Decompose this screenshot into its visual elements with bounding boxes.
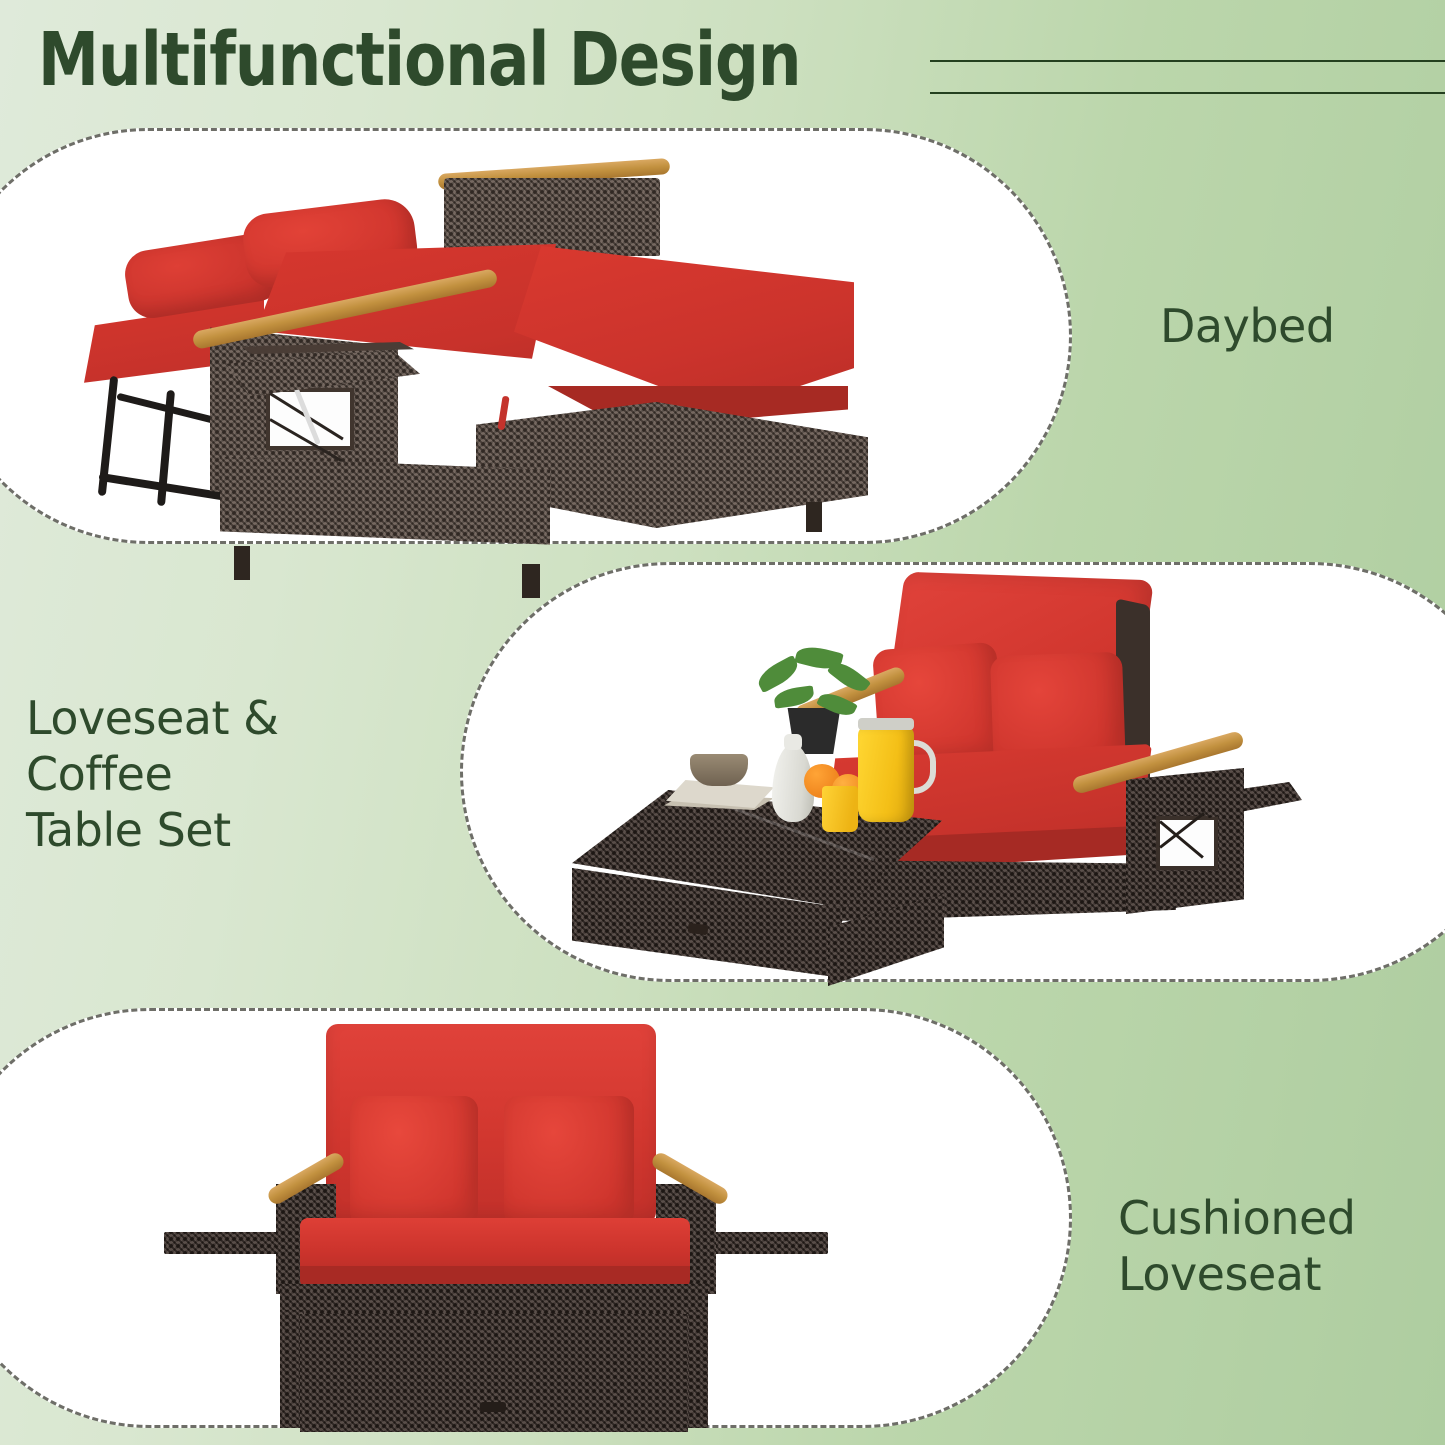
glass-juice-jar bbox=[858, 726, 914, 822]
side-tray-right bbox=[702, 1232, 828, 1254]
panel-label-cushioned-loveseat: Cushioned Loveseat bbox=[1118, 1190, 1355, 1302]
wicker-base-rail bbox=[280, 1284, 708, 1318]
metal-bowl bbox=[690, 754, 748, 786]
label-line-2: Coffee bbox=[26, 746, 278, 802]
panel-label-daybed: Daybed bbox=[1160, 298, 1335, 354]
side-tray-left bbox=[164, 1232, 290, 1254]
label-line-2: Loveseat bbox=[1118, 1246, 1355, 1302]
jar-lid bbox=[858, 718, 914, 730]
juice-glass bbox=[822, 786, 858, 832]
label-line-1: Cushioned bbox=[1118, 1190, 1355, 1246]
panel-label-loveseat-coffee-table: Loveseat & Coffee Table Set bbox=[26, 690, 278, 858]
throw-pillow-left bbox=[350, 1096, 478, 1226]
cushioned-loveseat-illustration bbox=[128, 1018, 748, 1430]
pull-out-ottoman bbox=[300, 1314, 688, 1432]
label-line-1: Loveseat & bbox=[26, 690, 278, 746]
header: Multifunctional Design bbox=[0, 0, 1445, 130]
daybed-foot-center bbox=[522, 564, 540, 598]
throw-pillow-right bbox=[504, 1096, 634, 1226]
header-rule-bottom bbox=[930, 92, 1445, 94]
ottoman-handle bbox=[480, 1402, 506, 1412]
header-rule-top bbox=[930, 60, 1445, 62]
daybed-foot-right bbox=[806, 502, 822, 532]
infographic-stage: Multifunctional Design Daybed bbox=[0, 0, 1445, 1445]
daybed-illustration bbox=[70, 150, 930, 550]
loveseat-coffee-table-illustration bbox=[560, 568, 1320, 988]
daybed-foot-left bbox=[234, 546, 250, 580]
page-title: Multifunctional Design bbox=[38, 17, 801, 103]
label-line-3: Table Set bbox=[26, 802, 278, 858]
